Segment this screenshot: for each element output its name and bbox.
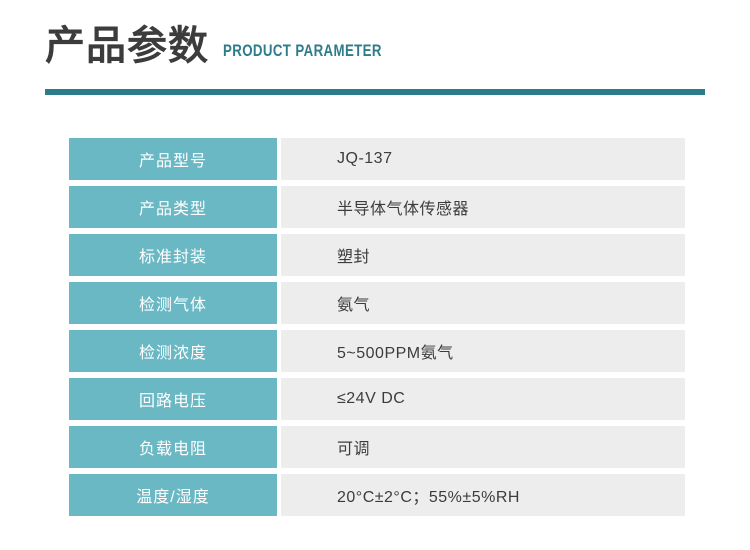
header-divider xyxy=(45,89,705,95)
param-value: 半导体气体传感器 xyxy=(281,186,685,228)
param-label: 产品型号 xyxy=(69,138,277,180)
table-row: 检测浓度 5~500PPM氨气 xyxy=(69,330,685,372)
table-row: 负载电阻 可调 xyxy=(69,426,685,468)
param-label: 产品类型 xyxy=(69,186,277,228)
parameter-table: 产品型号 JQ-137 产品类型 半导体气体传感器 标准封装 塑封 检测气体 氨… xyxy=(69,138,685,516)
header-title-group: 产品参数 PRODUCT PARAMETER xyxy=(45,26,427,66)
param-label: 检测气体 xyxy=(69,282,277,324)
param-value: 20°C±2°C；55%±5%RH xyxy=(281,474,685,516)
table-row: 回路电压 ≤24V DC xyxy=(69,378,685,420)
param-value: 可调 xyxy=(281,426,685,468)
table-row: 产品型号 JQ-137 xyxy=(69,138,685,180)
page-header: 产品参数 PRODUCT PARAMETER xyxy=(0,0,750,96)
param-label: 负载电阻 xyxy=(69,426,277,468)
param-value: 氨气 xyxy=(281,282,685,324)
param-label: 标准封装 xyxy=(69,234,277,276)
table-row: 检测气体 氨气 xyxy=(69,282,685,324)
table-row: 温度/湿度 20°C±2°C；55%±5%RH xyxy=(69,474,685,516)
param-value: 塑封 xyxy=(281,234,685,276)
table-row: 产品类型 半导体气体传感器 xyxy=(69,186,685,228)
page-title: 产品参数 xyxy=(45,26,209,66)
table-row: 标准封装 塑封 xyxy=(69,234,685,276)
param-value: 5~500PPM氨气 xyxy=(281,330,685,372)
param-value: JQ-137 xyxy=(281,138,685,180)
param-label: 温度/湿度 xyxy=(69,474,277,516)
param-label: 回路电压 xyxy=(69,378,277,420)
param-label: 检测浓度 xyxy=(69,330,277,372)
param-value: ≤24V DC xyxy=(281,378,685,420)
page-subtitle: PRODUCT PARAMETER xyxy=(223,42,382,59)
